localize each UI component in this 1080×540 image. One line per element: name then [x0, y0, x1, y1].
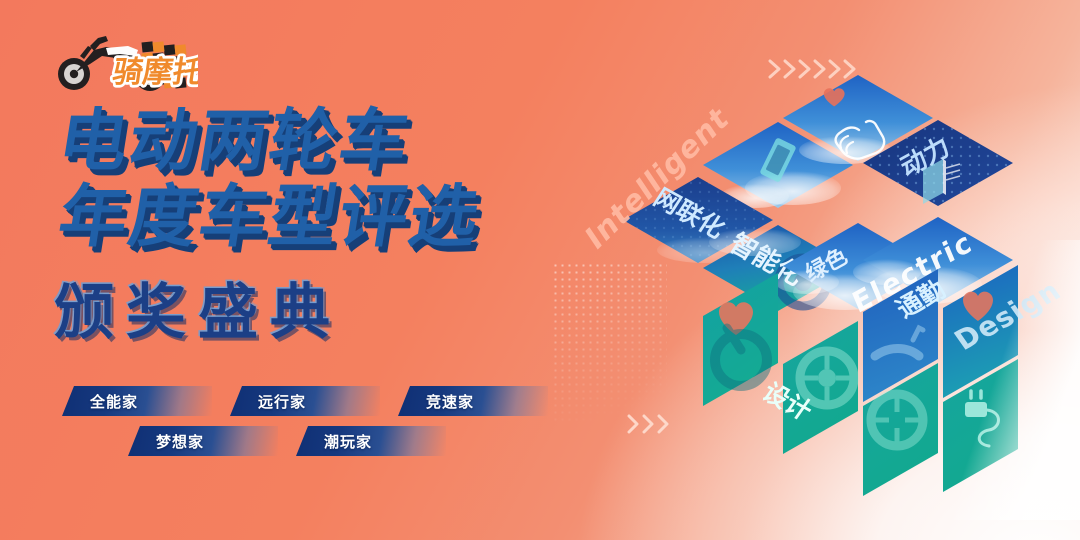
tag-label: 梦想家 — [156, 431, 204, 452]
svg-text:骑摩托: 骑摩托 — [110, 54, 198, 90]
headline-line-2: 年度车型评选 — [54, 184, 485, 252]
tag-chaowanjia[interactable]: 潮玩家 — [296, 426, 446, 456]
tag-label: 全能家 — [90, 391, 138, 412]
tag-row-top: 全能家 远行家 竞速家 — [62, 386, 566, 416]
tag-yuanxingjia[interactable]: 远行家 — [230, 386, 380, 416]
poster-canvas: 骑摩托 骑摩托 电动两轮车 年度车型评选 颁奖盛典 全能家 远行家 竞速家 梦想… — [0, 0, 1080, 540]
tag-quannengjia[interactable]: 全能家 — [62, 386, 212, 416]
tag-jingsujia[interactable]: 竞速家 — [398, 386, 548, 416]
logo-wordmark-icon: 骑摩托 骑摩托 — [110, 54, 198, 90]
tag-label: 远行家 — [258, 391, 306, 412]
qimotuo-logo[interactable]: 骑摩托 骑摩托 — [46, 22, 198, 96]
headline-line-1: 电动两轮车 — [54, 108, 415, 176]
tag-label: 潮玩家 — [324, 431, 372, 452]
headline-line-3: 颁奖盛典 — [54, 283, 342, 343]
cube-top-face: 动力 — [703, 75, 1013, 208]
isometric-cube-graphic: 动力 网联化 — [545, 10, 1080, 520]
tag-mengxiangjia[interactable]: 梦想家 — [128, 426, 278, 456]
tag-label: 竞速家 — [426, 391, 474, 412]
tag-row-bottom: 梦想家 潮玩家 — [128, 426, 464, 456]
